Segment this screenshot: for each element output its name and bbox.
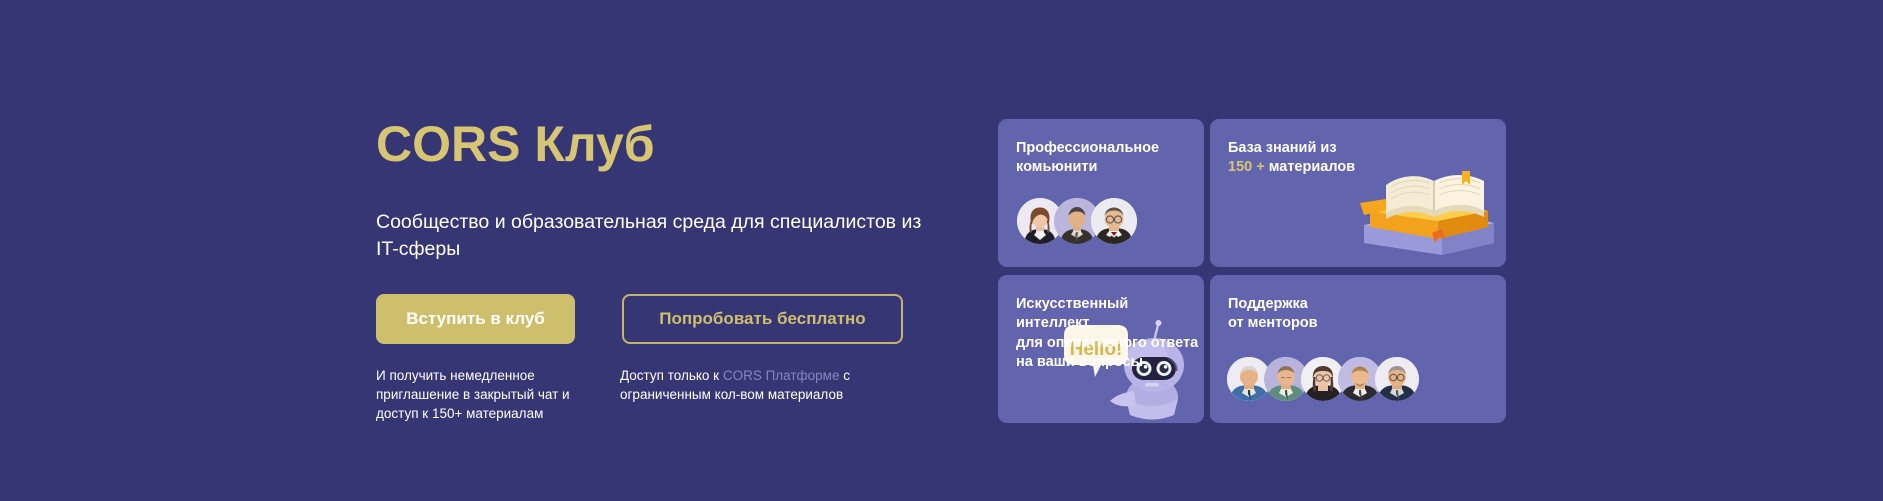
caption-text-before: Доступ только к bbox=[620, 368, 723, 383]
card-title-line-1: База знаний из bbox=[1228, 139, 1506, 158]
avatar bbox=[1091, 198, 1137, 244]
try-free-button[interactable]: Попробовать бесплатно bbox=[622, 294, 903, 344]
join-club-button[interactable]: Вступить в клуб bbox=[376, 294, 575, 344]
caption-join: И получить немедленное приглашение в зак… bbox=[376, 366, 576, 423]
hero-caption-row: И получить немедленное приглашение в зак… bbox=[376, 366, 956, 423]
hero-subtitle: Сообщество и образовательная среда для с… bbox=[376, 209, 936, 264]
card-title-ai: Искусственный интеллект для оперативного… bbox=[1016, 295, 1204, 372]
feature-card-ai[interactable]: Искусственный интеллект для оперативного… bbox=[998, 275, 1204, 423]
feature-card-community[interactable]: Профессиональное комьюнити bbox=[998, 119, 1204, 267]
hero-button-row: Вступить в клуб Попробовать бесплатно bbox=[376, 294, 956, 344]
page-title: CORS Клуб bbox=[376, 118, 956, 171]
card-title-line-2: от менторов bbox=[1228, 314, 1506, 333]
materials-label: материалов bbox=[1265, 159, 1355, 175]
card-title-line-2: комьюнити bbox=[1016, 158, 1204, 177]
hero-section: CORS Клуб Сообщество и образовательная с… bbox=[0, 0, 1883, 501]
card-title-line-1: Профессиональное bbox=[1016, 139, 1204, 158]
feature-card-mentors[interactable]: Поддержка от менторов bbox=[1210, 275, 1506, 423]
card-title-knowledge-base: База знаний из 150 + материалов bbox=[1228, 139, 1506, 178]
card-title-community: Профессиональное комьюнити bbox=[1016, 139, 1204, 178]
community-avatar-stack bbox=[1017, 198, 1128, 244]
feature-card-knowledge-base[interactable]: База знаний из 150 + материалов bbox=[1210, 119, 1506, 267]
materials-count: 150 + bbox=[1228, 159, 1265, 175]
card-title-mentors: Поддержка от менторов bbox=[1228, 295, 1506, 334]
caption-try-free: Доступ только к CORS Платформе с огранич… bbox=[620, 366, 870, 423]
card-title-line-2: 150 + материалов bbox=[1228, 158, 1506, 177]
card-title-line-3: на ваши вопросы bbox=[1016, 353, 1204, 372]
card-title-line-1: Искусственный интеллект bbox=[1016, 295, 1204, 334]
avatar bbox=[1375, 357, 1419, 401]
mentor-avatar-stack bbox=[1227, 357, 1412, 401]
card-title-line-1: Поддержка bbox=[1228, 295, 1506, 314]
card-title-line-2: для оперативного ответа bbox=[1016, 334, 1204, 353]
hero-content: CORS Клуб Сообщество и образовательная с… bbox=[376, 118, 956, 423]
cors-platform-link[interactable]: CORS Платформе bbox=[723, 368, 840, 383]
feature-card-grid: Профессиональное комьюнити База знаний и… bbox=[998, 119, 1506, 431]
